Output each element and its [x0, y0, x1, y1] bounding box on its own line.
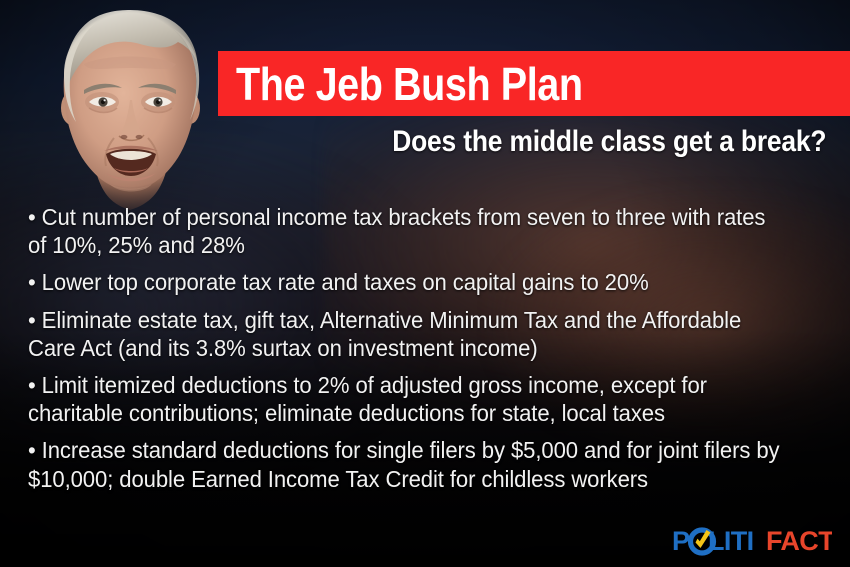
list-item: • Eliminate estate tax, gift tax, Altern… [28, 306, 788, 362]
politifact-graphic: The Jeb Bush Plan Does the middle class … [0, 0, 850, 567]
list-item: • Cut number of personal income tax brac… [28, 203, 788, 259]
title-banner: The Jeb Bush Plan [218, 51, 850, 116]
page-title: The Jeb Bush Plan [236, 61, 583, 107]
jeb-bush-portrait-image [44, 4, 216, 212]
logo-politi-text: P [672, 526, 690, 556]
policy-bullet-list: • Cut number of personal income tax brac… [28, 203, 836, 493]
list-item: • Increase standard deductions for singl… [28, 436, 788, 492]
politifact-logo: P LITI FACT [672, 524, 832, 558]
list-item: • Lower top corporate tax rate and taxes… [28, 268, 788, 296]
page-subtitle: Does the middle class get a break? [392, 126, 826, 158]
logo-fact-text: FACT [766, 526, 832, 556]
list-item: • Limit itemized deductions to 2% of adj… [28, 371, 788, 427]
